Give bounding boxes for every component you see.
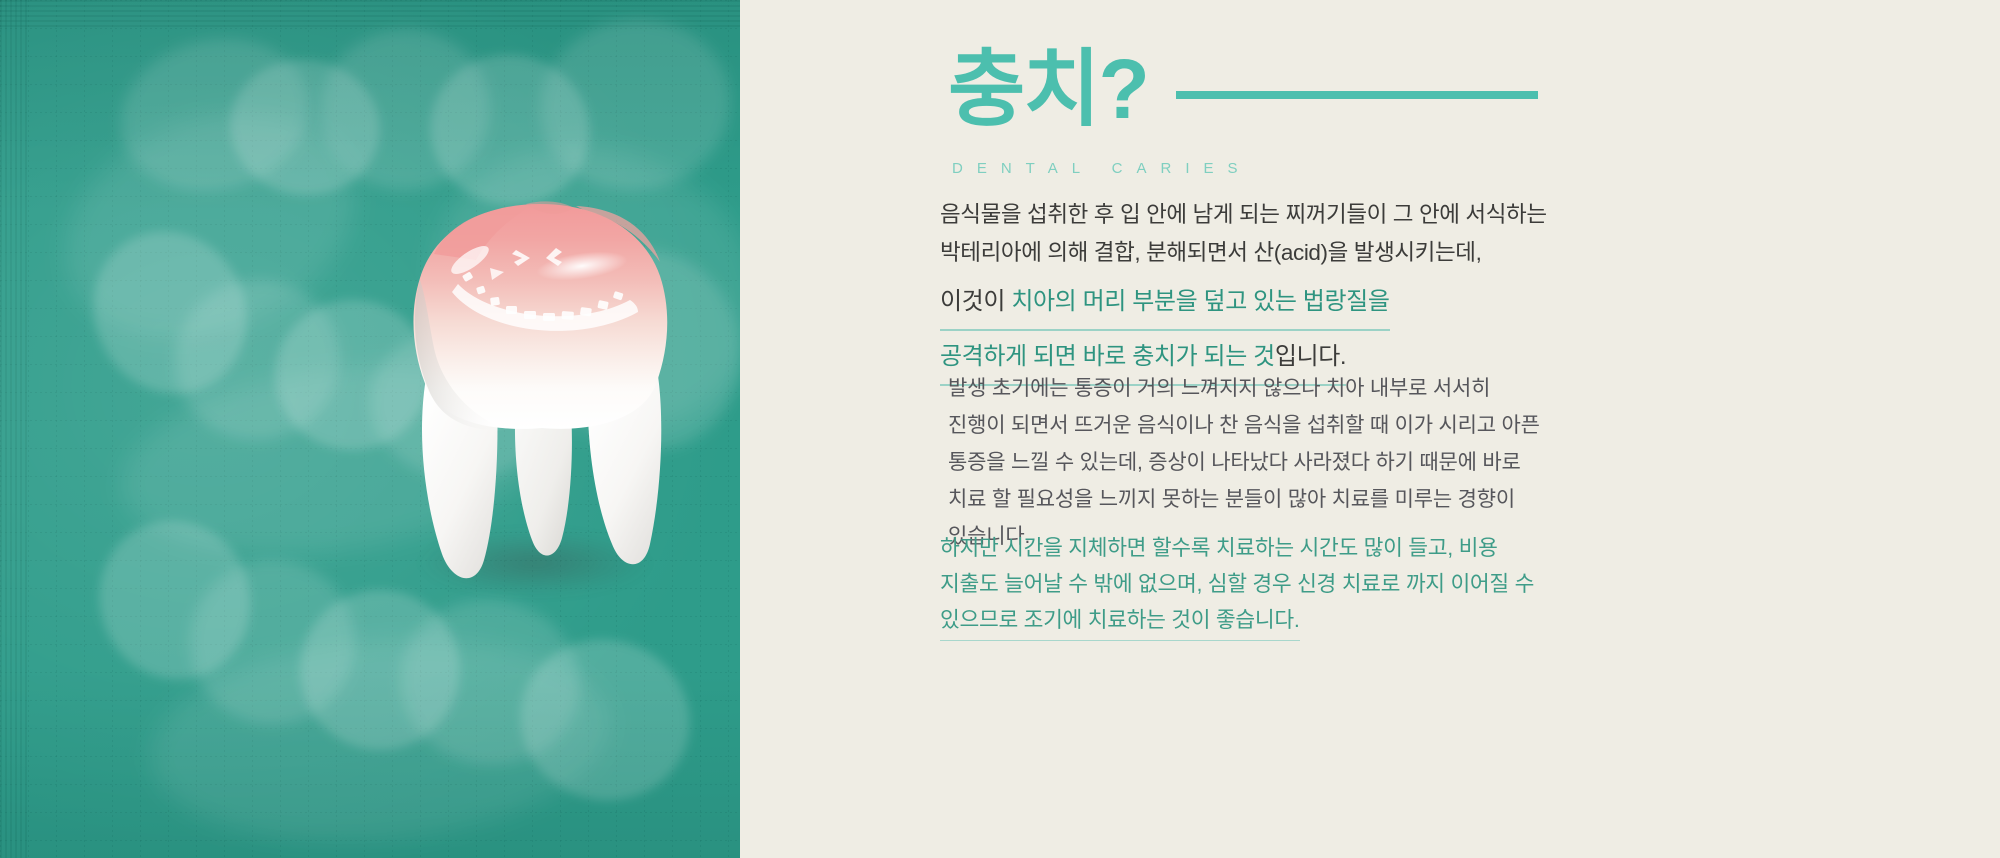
- tooth-illustration: [330, 188, 750, 608]
- highlight-teal-text: 치아의 머리 부분을 덮고 있는 법랑질을: [1011, 288, 1389, 315]
- paragraph-highlight-line: 이것이 치아의 머리 부분을 덮고 있는 법랑질을: [940, 280, 1640, 335]
- paragraph-closing-line: 있으므로 조기에 치료하는 것이 좋습니다.: [940, 602, 1640, 641]
- text-content-column: 충치? DENTAL CARIES 음식물을 섭취한 후 입 안에 남게 되는 …: [940, 0, 1640, 858]
- paragraph-closing-line: 하지만 시간을 지체하면 할수록 치료하는 시간도 많이 들고, 비용: [940, 530, 1640, 566]
- page-subtitle: DENTAL CARIES: [952, 160, 1252, 177]
- paragraph-body-line: 통증을 느낄 수 있는데, 증상이 나타났다 사라졌다 하기 때문에 바로: [948, 444, 1648, 481]
- paragraph-closing: 하지만 시간을 지체하면 할수록 치료하는 시간도 많이 들고, 비용 지출도 …: [940, 530, 1640, 641]
- underlined-segment: 이것이 치아의 머리 부분을 덮고 있는 법랑질을: [940, 280, 1390, 331]
- underlined-segment: 있으므로 조기에 치료하는 것이 좋습니다.: [940, 602, 1300, 641]
- highlight-dark-text: 입니다.: [1275, 343, 1346, 370]
- paragraph-body-line: 진행이 되면서 뜨거운 음식이나 찬 음식을 섭취할 때 이가 시리고 아픈: [948, 407, 1648, 444]
- title-row: 충치?: [948, 47, 1538, 131]
- highlight-dark-text: 이것이: [940, 288, 1011, 315]
- highlight-teal-text: 공격하게 되면 바로 충치가 되는 것: [940, 343, 1275, 370]
- paragraph-body-line: 발생 초기에는 통증이 거의 느껴지지 않으나 치아 내부로 서서히: [948, 370, 1648, 407]
- title-rule: [1176, 91, 1538, 99]
- page-root: 충치? DENTAL CARIES 음식물을 섭취한 후 입 안에 남게 되는 …: [0, 0, 2000, 858]
- paragraph-closing-line: 지출도 늘어날 수 밖에 없으며, 심할 경우 신경 치료로 까지 이어질 수: [940, 566, 1640, 602]
- paragraph-lead-line: 음식물을 섭취한 후 입 안에 남게 되는 찌꺼기들이 그 안에 서식하는: [940, 196, 1640, 234]
- tooth-svg: [330, 188, 750, 608]
- paragraph-body: 발생 초기에는 통증이 거의 느껴지지 않으나 치아 내부로 서서히 진행이 되…: [948, 370, 1648, 555]
- paragraph-lead: 음식물을 섭취한 후 입 안에 남게 되는 찌꺼기들이 그 안에 서식하는 박테…: [940, 196, 1640, 272]
- paragraph-body-line: 치료 할 필요성을 느끼지 못하는 분들이 많아 치료를 미루는 경향이: [948, 481, 1648, 518]
- page-title: 충치?: [948, 47, 1148, 131]
- paragraph-lead-line: 박테리아에 의해 결합, 분해되면서 산(acid)을 발생시키는데,: [940, 234, 1640, 272]
